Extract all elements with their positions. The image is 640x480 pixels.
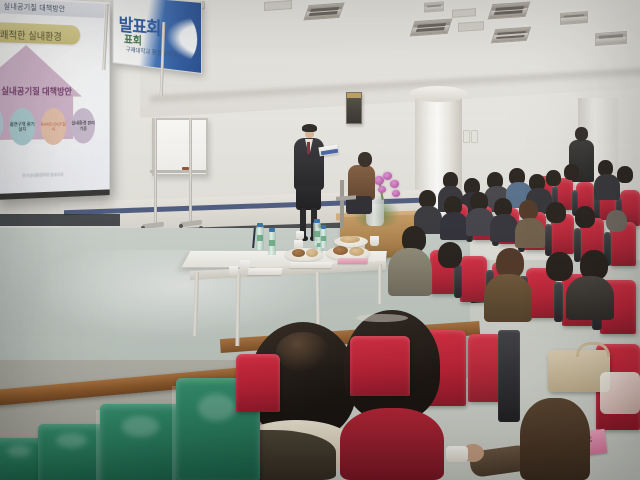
attendee-head bbox=[564, 164, 579, 180]
seminar-room-photograph: 실내공기질 대책방안 쾌적한 실내환경 실내공기질 대책방안 환기설비 흡연구역… bbox=[0, 0, 640, 480]
water-bottle bbox=[256, 226, 264, 250]
front-row-seat-gap bbox=[96, 410, 100, 480]
slide-house-label-text: 실내공기질 대책방안 bbox=[0, 84, 91, 98]
whiteboard-marker bbox=[182, 167, 189, 170]
front-row-seat-red bbox=[236, 354, 280, 412]
audience-seat-armrest bbox=[545, 224, 552, 256]
foreground-seat-armrest bbox=[498, 330, 520, 422]
ceiling-light-fixture bbox=[303, 3, 344, 21]
food-item bbox=[340, 236, 360, 243]
head-table-leg bbox=[378, 264, 382, 304]
paper-cup bbox=[296, 231, 304, 240]
audience-seat-armrest bbox=[554, 282, 563, 322]
napkin bbox=[446, 446, 468, 462]
slide-oval-4: 실내환경 관리기준 bbox=[71, 108, 95, 144]
hair-highlight bbox=[276, 332, 330, 372]
whiteboard-marker-tray bbox=[150, 170, 206, 173]
seated-attendant-head bbox=[358, 152, 372, 167]
food-item bbox=[292, 249, 305, 257]
attendee-head bbox=[606, 210, 627, 232]
orchid-bloom bbox=[378, 186, 386, 193]
food-item bbox=[306, 249, 318, 257]
slide-oval-3: BAKE-OUT실시 bbox=[41, 108, 66, 145]
orchid-bloom bbox=[392, 190, 400, 197]
food-item bbox=[349, 247, 364, 256]
document-stack bbox=[289, 262, 332, 268]
wall-plate bbox=[471, 130, 478, 143]
slide-heading-text: 쾌적한 실내환경 bbox=[0, 26, 62, 43]
foreground-attendee-coat bbox=[340, 408, 444, 480]
wall-plate bbox=[463, 130, 470, 143]
audience-seat-armrest bbox=[454, 264, 462, 298]
attendee-body bbox=[440, 212, 468, 240]
column-capital bbox=[409, 86, 468, 102]
audience-seat-armrest bbox=[574, 228, 581, 262]
plastic-bag bbox=[600, 372, 640, 414]
attendee-head bbox=[519, 200, 538, 220]
event-banner: 발표회 표회 구재대학교 환경공학과 bbox=[113, 0, 202, 74]
hairband bbox=[356, 314, 408, 322]
bottle-cap bbox=[321, 225, 326, 229]
projection-screen-surface: 실내공기질 대책방안 쾌적한 실내환경 실내공기질 대책방안 환기설비 흡연구역… bbox=[0, 0, 110, 194]
attendee-body bbox=[594, 174, 620, 200]
bottle-cap bbox=[257, 223, 263, 227]
paper-cup bbox=[370, 236, 379, 246]
slide-title-text: 실내공기질 대책방안 bbox=[4, 1, 66, 15]
ceiling-vent bbox=[452, 8, 476, 18]
attendee-body bbox=[566, 276, 614, 320]
slide-oval-3-label: BAKE-OUT실시 bbox=[41, 121, 66, 131]
standing-attendee-head bbox=[575, 127, 588, 141]
ceiling-light-fixture bbox=[424, 1, 444, 12]
slide-oval-4-label: 실내환경 관리기준 bbox=[71, 121, 95, 131]
paper-cup bbox=[229, 266, 238, 275]
wall-speaker bbox=[346, 92, 362, 124]
bag-handle bbox=[576, 342, 610, 357]
attendee-head bbox=[438, 242, 462, 268]
attendee-head bbox=[546, 252, 573, 281]
ceiling-light-fixture bbox=[491, 27, 532, 44]
pink-document bbox=[337, 258, 368, 264]
bottle-cap bbox=[269, 228, 275, 232]
slide-oval-2: 흡연구역 환기설치 bbox=[9, 108, 35, 146]
attendee-head bbox=[546, 202, 566, 223]
ceiling-light-fixture bbox=[410, 19, 453, 37]
orchid-bloom bbox=[390, 180, 399, 188]
baseboard bbox=[0, 214, 120, 226]
presenter-tie bbox=[307, 142, 310, 154]
projection-screen: 실내공기질 대책방안 쾌적한 실내환경 실내공기질 대책방안 환기설비 흡연구역… bbox=[0, 0, 110, 200]
foreground-attendee-body bbox=[520, 398, 590, 480]
ceiling-light-fixture bbox=[560, 11, 588, 25]
front-row-seat-gap bbox=[172, 386, 176, 480]
audience-seat bbox=[460, 256, 487, 302]
whiteboard bbox=[152, 118, 208, 176]
ceiling-light-fixture bbox=[595, 31, 627, 46]
attendee-body bbox=[515, 218, 545, 248]
attendee-body bbox=[388, 248, 432, 296]
attendee-head bbox=[546, 170, 561, 186]
whiteboard-leg-left bbox=[154, 118, 157, 226]
slide-heading-band: 쾌적한 실내환경 bbox=[0, 22, 80, 45]
foreground-seat bbox=[468, 334, 502, 402]
whiteboard-leg-right bbox=[189, 118, 192, 224]
ceiling-light-fixture bbox=[488, 2, 531, 20]
bottle-cap bbox=[314, 219, 320, 223]
attendee-body bbox=[484, 274, 532, 322]
ceiling-vent bbox=[458, 21, 484, 32]
presenter-hair bbox=[302, 124, 317, 132]
document-stack bbox=[247, 268, 282, 275]
water-bottle bbox=[268, 231, 276, 255]
food-item bbox=[333, 246, 348, 255]
presenter-lower-garment bbox=[296, 186, 321, 210]
attendee-head bbox=[575, 206, 595, 228]
water-bottle bbox=[320, 228, 327, 248]
orchid-bloom bbox=[383, 172, 392, 180]
folding-chair bbox=[340, 180, 344, 228]
attendee-body bbox=[490, 214, 518, 242]
slide-oval-2-label: 흡연구역 환기설치 bbox=[9, 122, 35, 133]
front-row-seat-red bbox=[350, 336, 410, 396]
attendee-head bbox=[617, 166, 633, 183]
